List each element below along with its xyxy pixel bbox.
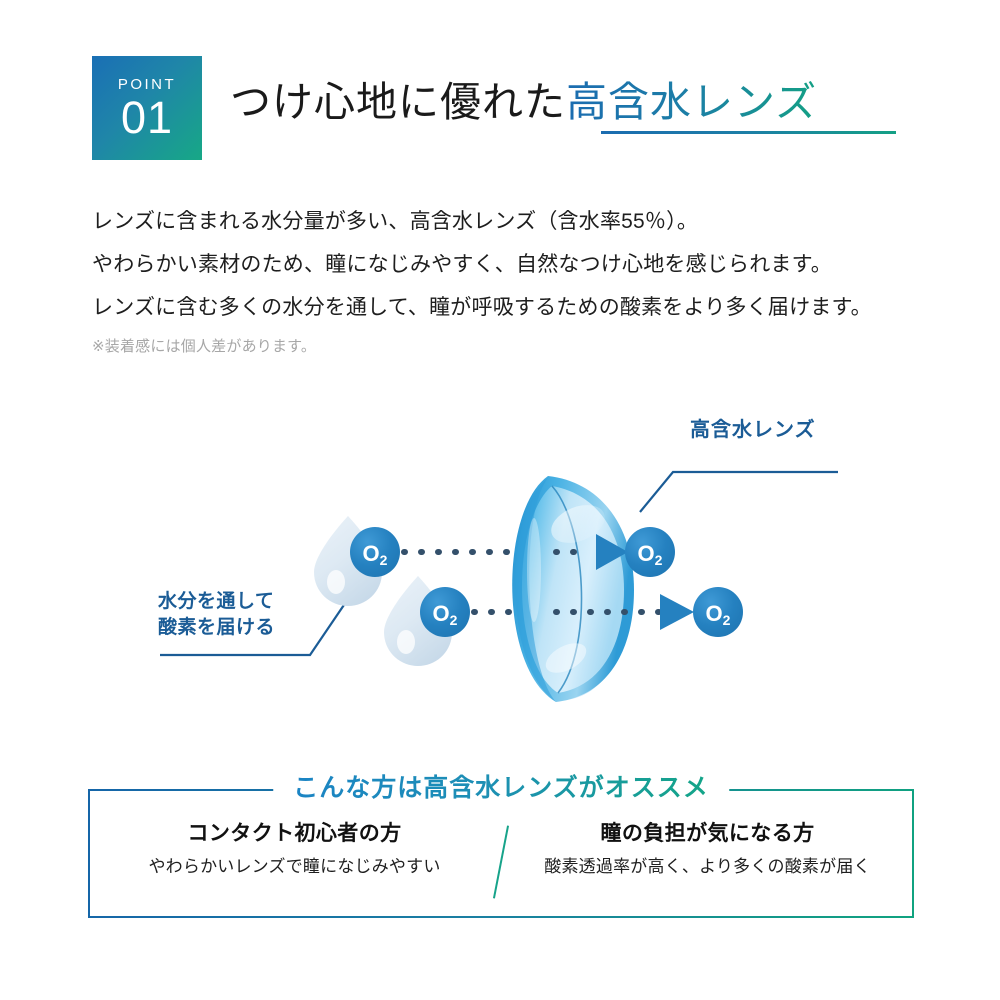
point-badge-number: 01 <box>121 95 173 140</box>
point-badge-label: POINT <box>118 77 176 92</box>
copy-line-1: レンズに含まれる水分量が多い、高含水レンズ（含水率55％）。 <box>92 208 932 237</box>
o2-molecule-left-lower: O2 <box>420 587 470 637</box>
arrow-head <box>660 594 694 630</box>
recommendation-column-1: コンタクト初心者の方 やわらかいレンズで瞳になじみやすい <box>88 821 501 878</box>
o2-subscript: 2 <box>655 552 663 568</box>
contact-lens-shape <box>512 476 634 702</box>
lens-highlight-left <box>527 518 541 622</box>
recommendation-column-1-sub: やわらかいレンズで瞳になじみやすい <box>88 857 501 877</box>
droplet-highlight <box>327 570 345 594</box>
o2-molecule-left-upper: O2 <box>350 527 400 577</box>
recommendation-box: こんな方は高含水レンズがオススメ コンタクト初心者の方 やわらかいレンズで瞳にな… <box>88 789 914 918</box>
diagram-canvas: 高含水レンズ 水分を通して 酸素を届ける <box>0 400 1000 740</box>
water-label-group: 水分を通して 酸素を届ける <box>157 590 348 655</box>
page-title-underline <box>601 131 896 134</box>
page-title: つけ心地に優れた高含水レンズ <box>230 82 896 123</box>
page-title-wrap: つけ心地に優れた高含水レンズ <box>230 82 896 134</box>
o2-subscript: 2 <box>380 552 388 568</box>
recommendation-heading: こんな方は高含水レンズがオススメ <box>273 773 729 803</box>
water-label-line2: 酸素を届ける <box>158 615 275 638</box>
droplet-highlight <box>397 630 415 654</box>
oxygen-arrow-lower <box>660 594 694 630</box>
recommendation-column-1-title: コンタクト初心者の方 <box>88 821 501 846</box>
recommendation-columns: コンタクト初心者の方 やわらかいレンズで瞳になじみやすい 瞳の負担が気になる方 … <box>88 821 914 878</box>
lens-label-group: 高含水レンズ <box>640 417 838 512</box>
copy-line-2: やわらかい素材のため、瞳になじみやすく、自然なつけ心地を感じられます。 <box>92 251 932 280</box>
page-title-plain: つけ心地に優れた <box>230 79 566 125</box>
copy-line-3: レンズに含む多くの水分を通して、瞳が呼吸するための酸素をより多く届けます。 <box>92 294 932 323</box>
recommendation-column-2-title: 瞳の負担が気になる方 <box>501 821 914 846</box>
page-title-accent: 高含水レンズ <box>566 79 817 125</box>
o2-subscript: 2 <box>450 612 458 628</box>
point-badge: POINT 01 <box>92 56 202 160</box>
water-label-line1: 水分を通して <box>157 590 274 612</box>
lens-leader-line <box>640 472 838 512</box>
recommendation-column-2: 瞳の負担が気になる方 酸素透過率が高く、より多くの酸素が届く <box>501 821 914 878</box>
page-header: POINT 01 つけ心地に優れた高含水レンズ <box>92 56 896 160</box>
o2-molecule-right-upper: O2 <box>625 527 675 577</box>
lens-oxygen-diagram: 高含水レンズ 水分を通して 酸素を届ける <box>0 400 1000 740</box>
body-copy: レンズに含まれる水分量が多い、高含水レンズ（含水率55％）。 やわらかい素材のた… <box>92 208 932 372</box>
o2-subscript: 2 <box>723 612 731 628</box>
o2-molecule-right-lower: O2 <box>693 587 743 637</box>
lens-label-text: 高含水レンズ <box>690 417 816 441</box>
recommendation-heading-text: こんな方は高含水レンズがオススメ <box>293 774 709 802</box>
copy-note: ※装着感には個人差があります。 <box>92 337 932 358</box>
recommendation-column-2-sub: 酸素透過率が高く、より多くの酸素が届く <box>501 857 914 877</box>
